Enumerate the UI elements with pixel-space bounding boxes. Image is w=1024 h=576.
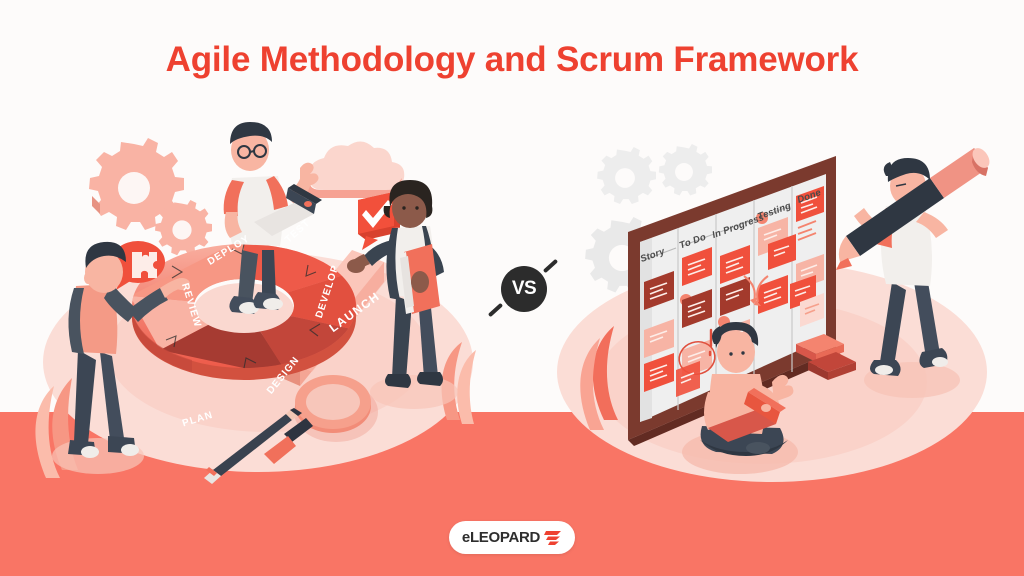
vs-divider: VS [487,252,559,324]
vs-dash-upper-icon [543,259,558,273]
vs-badge: VS [501,266,547,312]
vs-dash-lower-icon [488,303,503,317]
speed-bars-icon [543,529,562,546]
brand-logo[interactable]: eLEOPARD [449,521,575,554]
poster-canvas: Agile Methodology and Scrum Framework [0,0,1024,576]
brand-logo-text: eLEOPARD [462,529,540,546]
